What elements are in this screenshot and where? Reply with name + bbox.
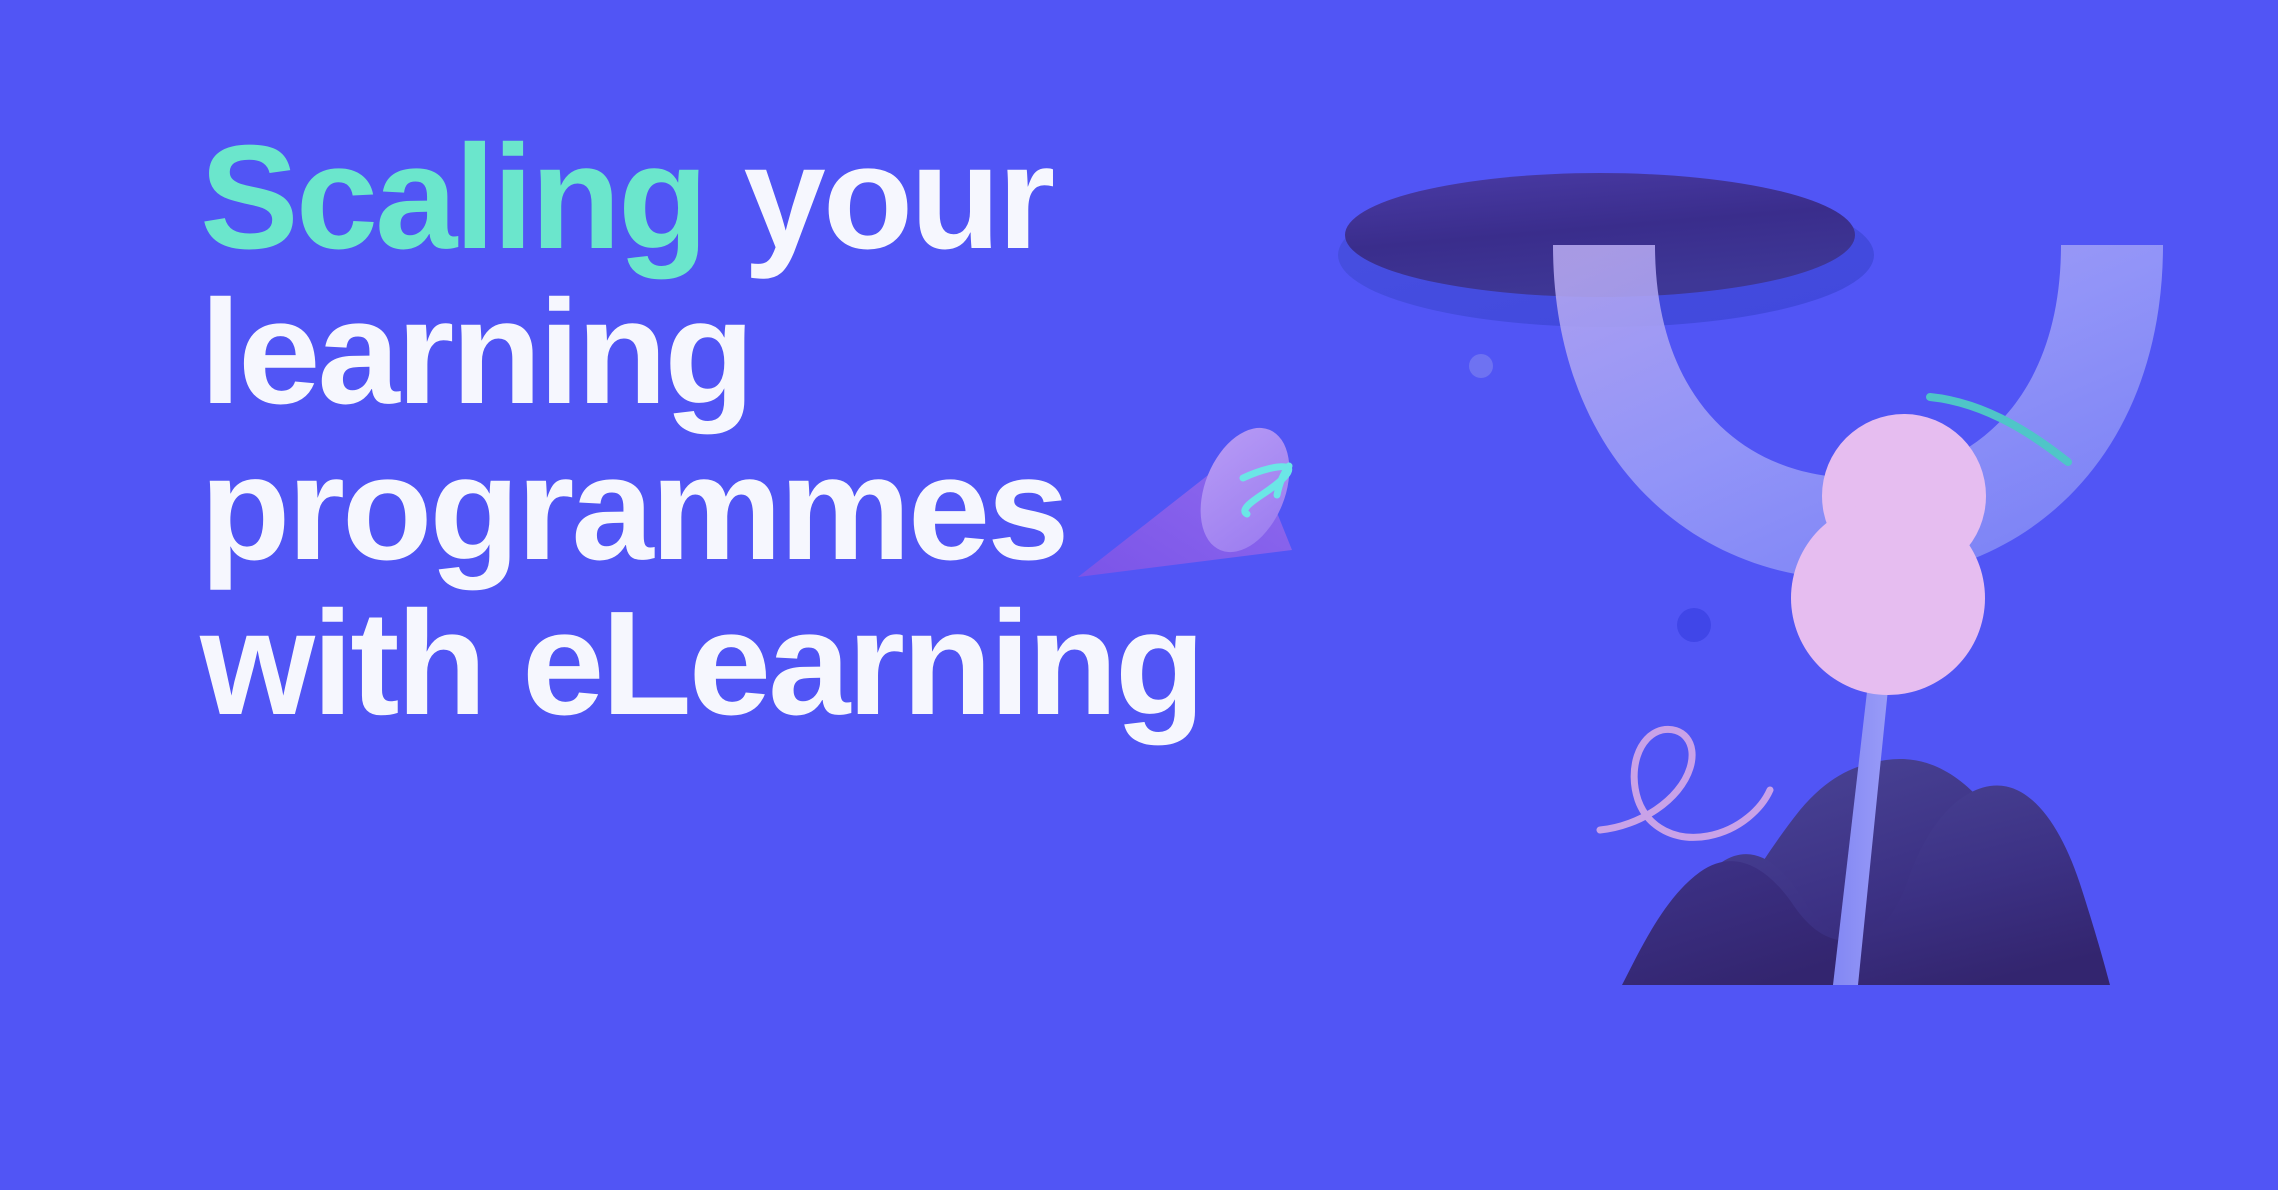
hills-big — [1690, 759, 2085, 985]
headline-line-2: learning — [200, 275, 1620, 430]
headline-line-3: programmes — [200, 431, 1620, 586]
headline-line-4: with eLearning — [200, 586, 1620, 741]
page-title: Scaling your learning programmes with eL… — [200, 120, 1620, 742]
loop-squiggle-icon — [1600, 729, 1770, 837]
hills-base — [1622, 861, 1856, 985]
cotton-candy-stem — [1833, 640, 1893, 985]
cotton-candy-bottom — [1791, 501, 1985, 695]
u-arc — [1553, 245, 2163, 580]
hills-foreground — [1652, 785, 2110, 985]
headline-line-1-rest: your — [705, 115, 1052, 280]
headline-line-1: Scaling your — [200, 120, 1620, 275]
cotton-candy-top — [1822, 414, 1986, 578]
headline-accent-word: Scaling — [200, 115, 705, 280]
teal-arc-swoosh-icon — [1930, 397, 2068, 462]
small-dot-dark-icon — [1677, 608, 1711, 642]
promo-banner: Scaling your learning programmes with eL… — [0, 0, 2278, 1190]
